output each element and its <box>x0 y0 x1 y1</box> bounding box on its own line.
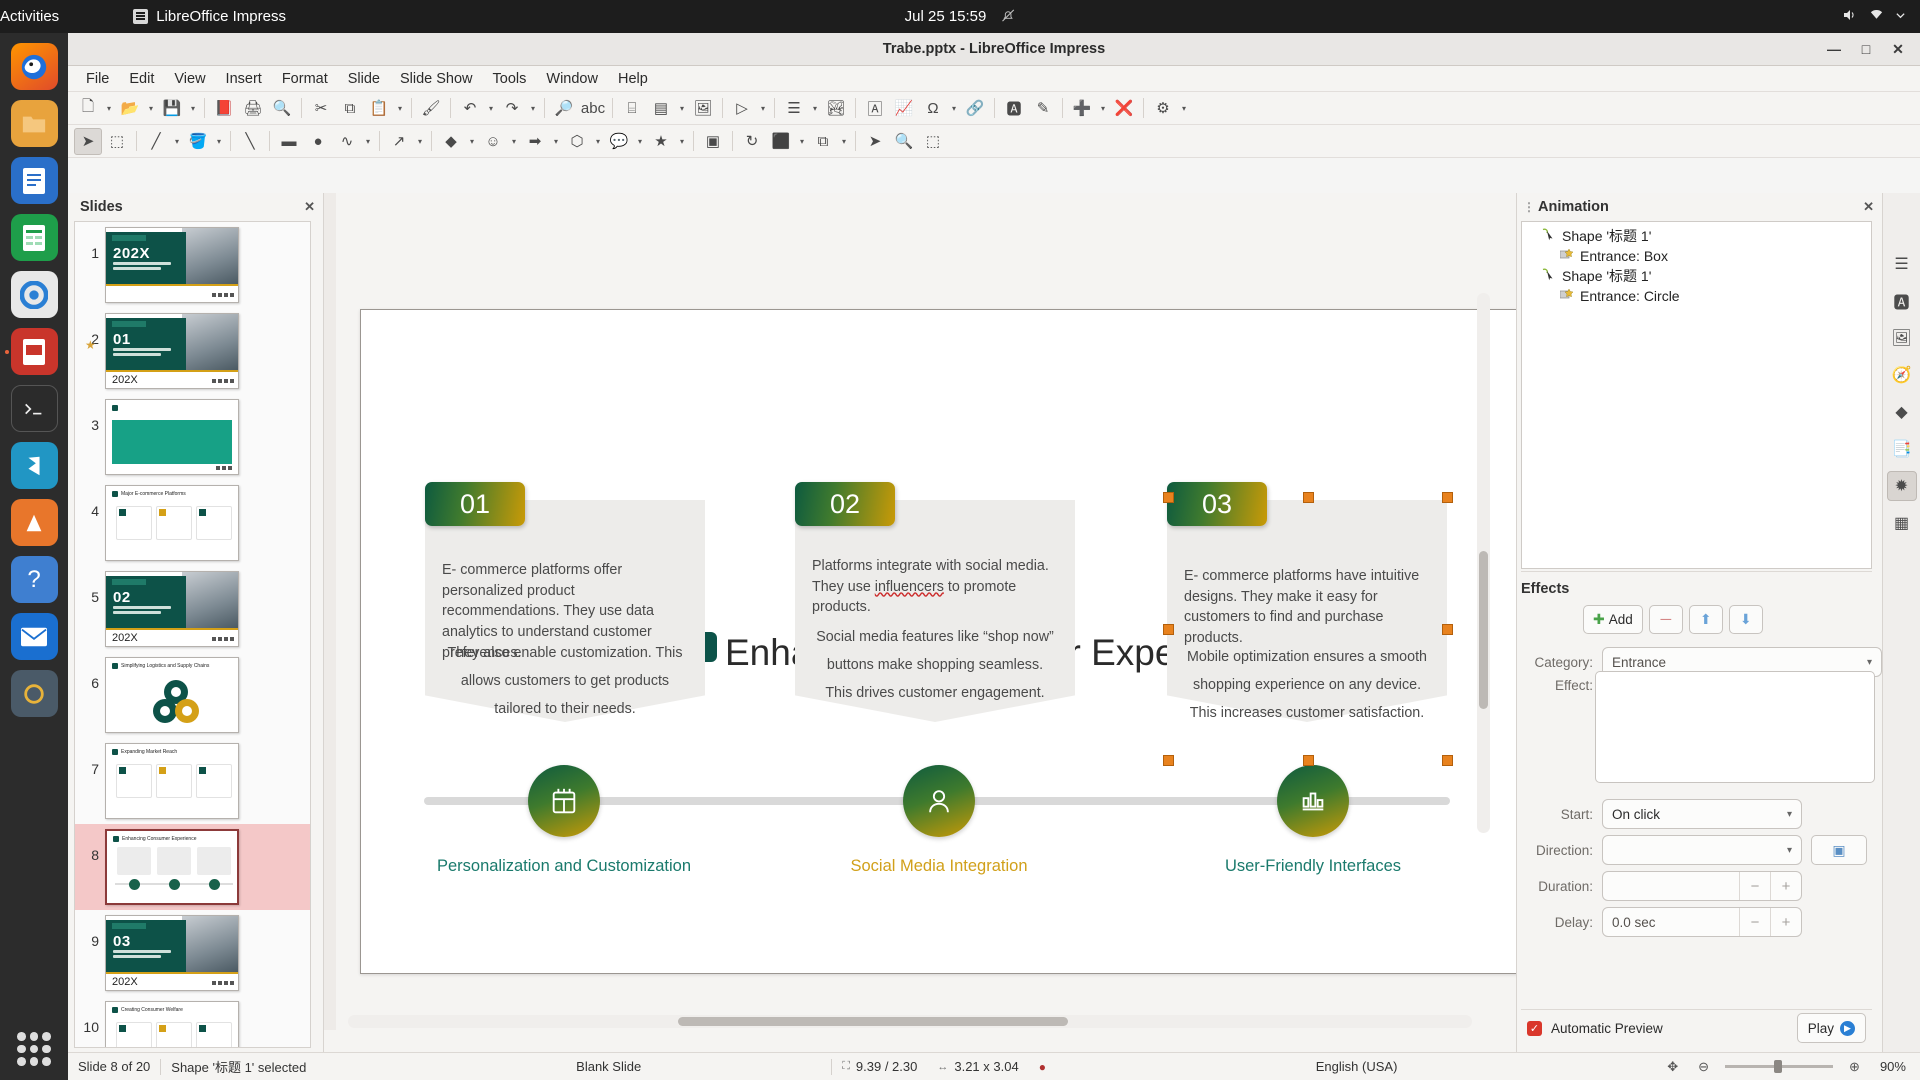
sidebar-tab-navigator[interactable]: 🧭 <box>1887 360 1917 390</box>
select-tool-icon[interactable]: ➤ <box>74 128 102 155</box>
zoom-out-icon[interactable]: ⊖ <box>1688 1059 1719 1075</box>
curves-dropdown[interactable]: ▾ <box>362 137 374 146</box>
stars-icon[interactable]: ★ <box>647 128 675 155</box>
line-color-icon[interactable]: ╱ <box>142 128 170 155</box>
animation-list-label: Shape '标题 1' <box>1562 266 1651 286</box>
slide-number: 3 <box>75 399 105 433</box>
vertical-scrollbar[interactable] <box>1477 293 1490 833</box>
clock-label: Jul 25 15:59 <box>905 8 987 25</box>
toolbar-separator <box>693 131 694 151</box>
insert-chart-icon[interactable]: 📈 <box>890 95 918 122</box>
animation-indicator-icon: ★ <box>85 338 96 352</box>
move-up-button[interactable]: ⬆ <box>1689 605 1723 634</box>
toolbar-separator <box>269 131 270 151</box>
calendar-icon <box>528 765 600 837</box>
sidebar-tab-animation[interactable]: ✹ <box>1887 471 1917 501</box>
effect-field: Effect: <box>1521 678 1593 693</box>
close-icon[interactable]: ✕ <box>304 199 315 215</box>
dock-item-impress[interactable] <box>11 328 58 375</box>
toggle-extrusion-icon[interactable]: ⬚ <box>919 128 947 155</box>
arrange-dropdown[interactable]: ▾ <box>838 137 850 146</box>
thumbnail-preview: Simplifying Logistics and Supply Chains <box>105 657 239 733</box>
callouts-icon[interactable]: 💬 <box>605 128 633 155</box>
thumbnail-preview: 03202X <box>105 915 239 991</box>
activities-button[interactable]: Activities <box>0 8 59 25</box>
animation-list-label: Entrance: Box <box>1580 248 1668 264</box>
status-language[interactable]: English (USA) <box>1306 1059 1408 1074</box>
new-slide-dropdown[interactable]: ▾ <box>1097 104 1109 113</box>
start-select[interactable]: On click ▾ <box>1602 799 1802 829</box>
toolbar-separator <box>722 98 723 118</box>
thumbnail-preview: Enhancing Consumer Experience <box>105 829 239 905</box>
3d-objects-icon[interactable]: ▣ <box>699 128 727 155</box>
slide-number: 8 <box>75 829 105 863</box>
bar-chart-icon <box>1277 765 1349 837</box>
automatic-preview-checkbox[interactable]: ✓ Automatic Preview <box>1527 1021 1663 1036</box>
delay-decrement[interactable]: − <box>1739 908 1770 936</box>
selection-handle-w[interactable] <box>1163 624 1174 635</box>
status-slide-position: Slide 8 of 20 <box>68 1059 160 1074</box>
horizontal-scrollbar[interactable] <box>348 1015 1472 1028</box>
position-icon: ⛶ <box>842 1060 850 1073</box>
status-object-size: ↔ 3.21 x 3.04 <box>927 1059 1028 1074</box>
selection-handle-ne[interactable] <box>1442 492 1453 503</box>
category-value: Entrance <box>1612 655 1666 670</box>
timeline-caption: Social Media Integration <box>850 857 1027 876</box>
window-titlebar: Trabe.pptx - LibreOffice Impress — □ ✕ <box>68 33 1920 66</box>
menu-slide[interactable]: Slide <box>338 68 390 90</box>
rectangle-icon[interactable]: ▬ <box>275 128 303 155</box>
selection-handle-nw[interactable] <box>1163 492 1174 503</box>
arrows-dropdown[interactable]: ▾ <box>550 137 562 146</box>
slide-thumbnail-7[interactable]: 7Expanding Market Reach <box>75 738 310 824</box>
selection-handle-e[interactable] <box>1442 624 1453 635</box>
animation-list-item[interactable]: Entrance: Circle <box>1522 286 1871 306</box>
thumbnail-preview: Major E-commerce Platforms <box>105 485 239 561</box>
slideshow-dropdown[interactable]: ▾ <box>757 104 769 113</box>
clone-formatting-icon[interactable]: 🖌 <box>417 95 445 122</box>
card-badge: 02 <box>795 482 895 526</box>
delay-input[interactable]: 0.0 sec −+ <box>1602 907 1802 937</box>
show-draw-functions-icon[interactable]: ✎ <box>1029 95 1057 122</box>
undo-icon[interactable]: ↶ <box>456 95 484 122</box>
animation-list-label: Shape '标题 1' <box>1562 226 1651 246</box>
delay-value: 0.0 sec <box>1612 915 1656 930</box>
display-grid-icon[interactable]: ⌸ <box>618 95 646 122</box>
basic-dropdown[interactable]: ▾ <box>466 137 478 146</box>
close-icon[interactable]: ✕ <box>1863 199 1874 215</box>
menu-edit[interactable]: Edit <box>119 68 164 90</box>
menu-window[interactable]: Window <box>536 68 608 90</box>
insert-textbox-icon[interactable]: 🄰 <box>861 95 889 122</box>
menu-view[interactable]: View <box>164 68 215 90</box>
toolbar-separator <box>994 98 995 118</box>
impress-app-icon <box>133 9 148 24</box>
animation-list-item[interactable]: Shape '标题 1' <box>1522 266 1871 286</box>
chevron-down-icon: ▾ <box>1867 657 1872 668</box>
master-slide-icon[interactable]: 🖼 <box>689 95 717 122</box>
toolbar-separator <box>855 98 856 118</box>
timeline-caption: User-Friendly Interfaces <box>1225 857 1401 876</box>
zoom-slider[interactable] <box>1725 1065 1833 1068</box>
ubuntu-dock: ? <box>0 33 68 1080</box>
open-file-icon[interactable]: 📂 <box>116 95 144 122</box>
fill-color-icon[interactable]: 🪣 <box>184 128 212 155</box>
slide-number: 5 <box>75 571 105 605</box>
fill-color-dropdown[interactable]: ▾ <box>213 137 225 146</box>
slide-thumbnail-4[interactable]: 4Major E-commerce Platforms <box>75 480 310 566</box>
standard-toolbar: 🗋▾📂▾💾▾📕🖨🔍✂⧉📋▾🖌↶▾↷▾🔎abc⌸▤▾🖼▷▾☰▾🏞🄰📈Ω▾🔗🅰✎➕▾… <box>68 92 1920 125</box>
menu-tools[interactable]: Tools <box>483 68 537 90</box>
slide-properties-icon[interactable]: ⚙ <box>1149 95 1177 122</box>
size-icon: ↔ <box>937 1061 948 1073</box>
selection-handle-n[interactable] <box>1303 492 1314 503</box>
add-effect-label: Add <box>1609 612 1633 627</box>
toolbar-separator <box>1143 98 1144 118</box>
slide-thumbnail-5[interactable]: 502202X <box>75 566 310 652</box>
zoom-tool-icon[interactable]: ⬚ <box>103 128 131 155</box>
dock-item-vscode[interactable] <box>11 442 58 489</box>
slide-edit-area: Enhancing Consumer Experience 01 E- comm… <box>324 193 1516 1052</box>
vertical-ruler <box>324 193 336 1030</box>
slide-number: 9 <box>75 915 105 949</box>
start-label: Start: <box>1521 807 1593 822</box>
dock-item-software[interactable] <box>11 670 58 717</box>
flowchart-dropdown[interactable]: ▾ <box>592 137 604 146</box>
timeline-caption: Personalization and Customization <box>437 857 691 876</box>
slide-thumbnail-9[interactable]: 903202X <box>75 910 310 996</box>
menu-help[interactable]: Help <box>608 68 658 90</box>
dock-item-terminal[interactable] <box>11 385 58 432</box>
toolbar-separator <box>855 131 856 151</box>
card-paragraph-2: Social media features like “shop now” bu… <box>812 624 1058 708</box>
chevron-down-icon: ▾ <box>1787 809 1792 820</box>
card-paragraph-1: E- commerce platforms have intuitive des… <box>1184 566 1430 649</box>
card-paragraph-1: Platforms integrate with social media. T… <box>812 556 1058 618</box>
effects-heading: Effects <box>1521 581 1872 597</box>
sidebar-tab-styles[interactable]: 🅰 <box>1887 286 1917 316</box>
slides-panel-title: Slides <box>80 199 123 215</box>
delete-slide-icon[interactable]: ❌ <box>1110 95 1138 122</box>
insert-hyperlink-icon[interactable]: 🔗 <box>961 95 989 122</box>
slide-thumbnail-1[interactable]: 1202X <box>75 222 310 308</box>
align-dropdown[interactable]: ▾ <box>796 137 808 146</box>
thumbnail-preview: 02202X <box>105 571 239 647</box>
effect-listbox[interactable] <box>1595 671 1875 783</box>
new-dropdown[interactable]: ▾ <box>103 104 115 113</box>
animation-panel-header: ⋮ Animation ✕ <box>1517 193 1882 221</box>
arrow-up-icon: ⬆ <box>1700 611 1712 628</box>
slide-thumbnail-8[interactable]: 8Enhancing Consumer Experience <box>75 824 310 910</box>
window-title: Trabe.pptx - LibreOffice Impress <box>883 41 1105 57</box>
dock-item-writer[interactable] <box>11 157 58 204</box>
card-paragraph-2: They also enable customization. This all… <box>442 640 688 724</box>
ellipse-icon[interactable]: ● <box>304 128 332 155</box>
new-slide-icon[interactable]: ➕ <box>1068 95 1096 122</box>
spelling-icon[interactable]: abc <box>579 95 607 122</box>
duration-decrement[interactable]: − <box>1739 872 1770 900</box>
drawing-toolbar: ➤⬚╱▾🪣▾╲▬●∿▾↗▾◆▾☺▾➡▾⬡▾💬▾★▾▣↻⬛▾⧉▾➤🔍⬚ <box>68 125 1920 158</box>
active-app-label: LibreOffice Impress <box>156 8 286 25</box>
slide-number: 6 <box>75 657 105 691</box>
play-label: Play <box>1808 1021 1834 1036</box>
slides-panel-header: Slides ✕ <box>68 193 323 221</box>
user-icon <box>903 765 975 837</box>
start-field: Start: On click ▾ <box>1521 799 1802 829</box>
delay-label: Delay: <box>1521 915 1593 930</box>
toolbar-separator <box>411 98 412 118</box>
shape-click-icon <box>1542 228 1556 244</box>
slides-panel: Slides ✕ 1202X2★01202X34Major E-commerce… <box>68 193 324 1052</box>
start-slideshow-icon[interactable]: ▷ <box>728 95 756 122</box>
callouts-dropdown[interactable]: ▾ <box>634 137 646 146</box>
toolbar-separator <box>1062 98 1063 118</box>
remove-effect-button[interactable]: ─ <box>1649 605 1683 634</box>
status-zoom-level[interactable]: 90% <box>1870 1059 1920 1074</box>
toolbar-separator <box>230 131 231 151</box>
entrance-star-icon <box>1560 248 1574 264</box>
paste-dropdown[interactable]: ▾ <box>394 104 406 113</box>
gnome-top-bar: Activities LibreOffice Impress Jul 25 15… <box>0 0 1920 33</box>
slide-thumbnail-10[interactable]: 10Creating Consumer Welfare <box>75 996 310 1048</box>
block-arrows-icon[interactable]: ➡ <box>521 128 549 155</box>
move-down-button[interactable]: ⬇ <box>1729 605 1763 634</box>
find-replace-icon[interactable]: 🔎 <box>550 95 578 122</box>
toolbar-separator <box>732 131 733 151</box>
stars-dropdown[interactable]: ▾ <box>676 137 688 146</box>
basic-shapes-icon[interactable]: ◆ <box>437 128 465 155</box>
export-pdf-icon[interactable]: 📕 <box>210 95 238 122</box>
print-preview-icon[interactable]: 🔍 <box>268 95 296 122</box>
toolbar-separator <box>774 98 775 118</box>
thumb-photo <box>182 572 238 628</box>
selection-handle-sw[interactable] <box>1163 755 1174 766</box>
active-app-indicator[interactable]: LibreOffice Impress <box>133 8 286 25</box>
clock-button[interactable]: Jul 25 15:59 <box>905 8 1016 26</box>
copy-icon[interactable]: ⧉ <box>336 95 364 122</box>
flowchart-icon[interactable]: ⬡ <box>563 128 591 155</box>
slide-number: 4 <box>75 485 105 519</box>
panel-grip-icon[interactable]: ⋮ <box>1523 200 1534 214</box>
animation-panel-title: Animation <box>1538 199 1609 215</box>
insert-fontwork-icon[interactable]: 🅰 <box>1000 95 1028 122</box>
symbol-dropdown[interactable]: ▾ <box>508 137 520 146</box>
dock-item-files[interactable] <box>11 100 58 147</box>
arrow-down-icon: ⬇ <box>1740 611 1752 628</box>
insert-image-icon[interactable]: 🏞 <box>822 95 850 122</box>
checkbox-checked-icon: ✓ <box>1527 1021 1542 1036</box>
slide-canvas[interactable]: Enhancing Consumer Experience 01 E- comm… <box>360 309 1520 974</box>
rotate-icon[interactable]: ↻ <box>738 128 766 155</box>
toolbar-separator <box>379 131 380 151</box>
display-views-icon[interactable]: ▤ <box>647 95 675 122</box>
timeline-node-2[interactable]: Social Media Integration <box>903 765 975 837</box>
dock-item-vlc[interactable] <box>11 499 58 546</box>
status-cursor-position: ⛶ 9.39 / 2.30 <box>832 1059 927 1074</box>
thumbnail-preview: 01202X <box>105 313 239 389</box>
sidebar-tab-properties[interactable]: ☰ <box>1887 249 1917 279</box>
glue-points-icon[interactable]: 🔍 <box>890 128 918 155</box>
chevron-down-icon: ▾ <box>1787 845 1792 856</box>
entrance-star-icon <box>1560 288 1574 304</box>
connectors-dropdown[interactable]: ▾ <box>414 137 426 146</box>
dock-item-calc[interactable] <box>11 214 58 261</box>
play-icon: ▶ <box>1840 1021 1855 1036</box>
curves-polygons-icon[interactable]: ∿ <box>333 128 361 155</box>
selection-handle-se[interactable] <box>1442 755 1453 766</box>
minimize-button[interactable]: — <box>1820 38 1848 60</box>
toolbar-separator <box>431 131 432 151</box>
effect-options-icon: ▣ <box>1832 842 1845 859</box>
connectors-icon[interactable]: ↗ <box>385 128 413 155</box>
status-slide-layout: Blank Slide <box>566 1059 651 1074</box>
duration-increment[interactable]: + <box>1770 872 1801 900</box>
card-badge: 01 <box>425 482 525 526</box>
running-indicator <box>5 350 9 354</box>
delay-field: Delay: 0.0 sec −+ <box>1521 907 1802 937</box>
power-menu-icon <box>1895 9 1906 24</box>
card-badge: 03 <box>1167 482 1267 526</box>
animation-list-item[interactable]: Shape '标题 1' <box>1522 226 1871 246</box>
cut-icon[interactable]: ✂ <box>307 95 335 122</box>
insert-special-char-icon[interactable]: Ω <box>919 95 947 122</box>
insert-table-icon[interactable]: ☰ <box>780 95 808 122</box>
play-button[interactable]: Play ▶ <box>1797 1013 1866 1043</box>
sidebar-tab-slide-transition[interactable]: ▦ <box>1887 508 1917 538</box>
select-all-icon[interactable]: ➤ <box>861 128 889 155</box>
redo-dropdown[interactable]: ▾ <box>527 104 539 113</box>
sidebar-tab-rail: ☰🅰🖼🧭◆📑✹▦ <box>1882 193 1920 1052</box>
slide-number: 1 <box>75 227 105 261</box>
paste-icon[interactable]: 📋 <box>365 95 393 122</box>
timeline-node-3[interactable]: User-Friendly Interfaces <box>1277 765 1349 837</box>
bell-muted-icon <box>1000 8 1015 26</box>
slide-thumbnail-2[interactable]: 2★01202X <box>75 308 310 394</box>
thumb-photo <box>182 314 238 370</box>
save-icon[interactable]: 💾 <box>158 95 186 122</box>
properties-dropdown[interactable]: ▾ <box>1178 104 1190 113</box>
sidebar-tab-shapes[interactable]: ◆ <box>1887 397 1917 427</box>
direction-field: Direction: ▾ ▣ <box>1521 835 1867 865</box>
sidebar-tab-gallery[interactable]: 🖼 <box>1887 323 1917 353</box>
selection-handle-s[interactable] <box>1303 755 1314 766</box>
dock-item-chromium[interactable] <box>11 271 58 318</box>
sidebar-tab-master-slides[interactable]: 📑 <box>1887 434 1917 464</box>
line-color-dropdown[interactable]: ▾ <box>171 137 183 146</box>
duration-label: Duration: <box>1521 879 1593 894</box>
menu-insert[interactable]: Insert <box>216 68 272 90</box>
card-paragraph-2: Mobile optimization ensures a smooth sho… <box>1184 644 1430 728</box>
dock-item-thunderbird[interactable] <box>11 613 58 660</box>
menu-bar: FileEditViewInsertFormatSlideSlide ShowT… <box>68 66 1920 92</box>
animation-effects-list[interactable]: Shape '标题 1'Entrance: BoxShape '标题 1'Ent… <box>1521 221 1872 569</box>
new-document-icon[interactable]: 🗋 <box>74 95 102 122</box>
undo-dropdown[interactable]: ▾ <box>485 104 497 113</box>
arrange-icon[interactable]: ⧉ <box>809 128 837 155</box>
menu-format[interactable]: Format <box>272 68 338 90</box>
effect-options-button[interactable]: ▣ <box>1811 835 1867 865</box>
start-value: On click <box>1612 807 1660 822</box>
slide-number: 10 <box>75 1001 105 1035</box>
status-bar: Slide 8 of 20 Shape '标题 1' selected Blan… <box>68 1052 1920 1080</box>
toolbar-separator <box>301 98 302 118</box>
shape-click-icon <box>1542 268 1556 284</box>
open-dropdown[interactable]: ▾ <box>145 104 157 113</box>
menu-file[interactable]: File <box>76 68 119 90</box>
menu-slide-show[interactable]: Slide Show <box>390 68 483 90</box>
animation-list-label: Entrance: Circle <box>1580 288 1680 304</box>
duration-input[interactable]: −+ <box>1602 871 1802 901</box>
direction-select[interactable]: ▾ <box>1602 835 1802 865</box>
toolbar-separator <box>612 98 613 118</box>
toolbar-separator <box>450 98 451 118</box>
misspelled-word: influencers <box>875 579 944 595</box>
plus-icon: ✚ <box>1593 611 1605 628</box>
toolbar-separator <box>544 98 545 118</box>
slide-number: 7 <box>75 743 105 777</box>
animation-list-item[interactable]: Entrance: Box <box>1522 246 1871 266</box>
slides-thumbnail-list[interactable]: 1202X2★01202X34Major E-commerce Platform… <box>74 221 311 1048</box>
symbol-shapes-icon[interactable]: ☺ <box>479 128 507 155</box>
minus-icon: ─ <box>1660 611 1671 628</box>
timeline-node-1[interactable]: Personalization and Customization <box>528 765 600 837</box>
slide-thumbnail-6[interactable]: 6Simplifying Logistics and Supply Chains <box>75 652 310 738</box>
views-dropdown[interactable]: ▾ <box>676 104 688 113</box>
delay-increment[interactable]: + <box>1770 908 1801 936</box>
special-dropdown[interactable]: ▾ <box>948 104 960 113</box>
close-button[interactable]: ✕ <box>1884 38 1912 60</box>
dock-item-help[interactable]: ? <box>11 556 58 603</box>
impress-window: Trabe.pptx - LibreOffice Impress — □ ✕ F… <box>68 33 1920 1080</box>
status-selection-info: Shape '标题 1' selected <box>161 1057 316 1076</box>
table-dropdown[interactable]: ▾ <box>809 104 821 113</box>
show-applications-button[interactable] <box>17 1032 51 1066</box>
thumbnail-preview: 202X <box>105 227 239 303</box>
save-dropdown[interactable]: ▾ <box>187 104 199 113</box>
network-icon <box>1869 8 1884 25</box>
category-label: Category: <box>1521 655 1593 670</box>
thumbnail-preview <box>105 399 239 475</box>
fit-slide-icon[interactable]: ✥ <box>1657 1059 1688 1075</box>
duration-field: Duration: −+ <box>1521 871 1802 901</box>
thumbnail-preview: Expanding Market Reach <box>105 743 239 819</box>
redo-icon[interactable]: ↷ <box>498 95 526 122</box>
effect-label: Effect: <box>1521 678 1593 693</box>
direction-label: Direction: <box>1521 843 1593 858</box>
thumb-photo <box>182 916 238 972</box>
maximize-button[interactable]: □ <box>1852 38 1880 60</box>
toolbar-separator <box>204 98 205 118</box>
automatic-preview-label: Automatic Preview <box>1551 1021 1663 1036</box>
dock-item-firefox[interactable] <box>11 43 58 90</box>
add-effect-button[interactable]: ✚ Add <box>1583 605 1643 634</box>
animation-panel: ⋮ Animation ✕ Shape '标题 1'Entrance: BoxS… <box>1516 193 1882 1052</box>
system-status-area[interactable] <box>1842 8 1906 25</box>
volume-icon <box>1842 8 1858 25</box>
slide-thumbnail-3[interactable]: 3 <box>75 394 310 480</box>
print-icon[interactable]: 🖨 <box>239 95 267 122</box>
align-objects-icon[interactable]: ⬛ <box>767 128 795 155</box>
insert-line-icon[interactable]: ╲ <box>236 128 264 155</box>
toolbar-separator <box>136 131 137 151</box>
thumb-photo <box>182 228 238 284</box>
zoom-in-icon[interactable]: ⊕ <box>1839 1059 1870 1075</box>
unsaved-changes-icon[interactable]: ● <box>1029 1060 1056 1074</box>
thumbnail-preview: Creating Consumer Welfare <box>105 1001 239 1048</box>
